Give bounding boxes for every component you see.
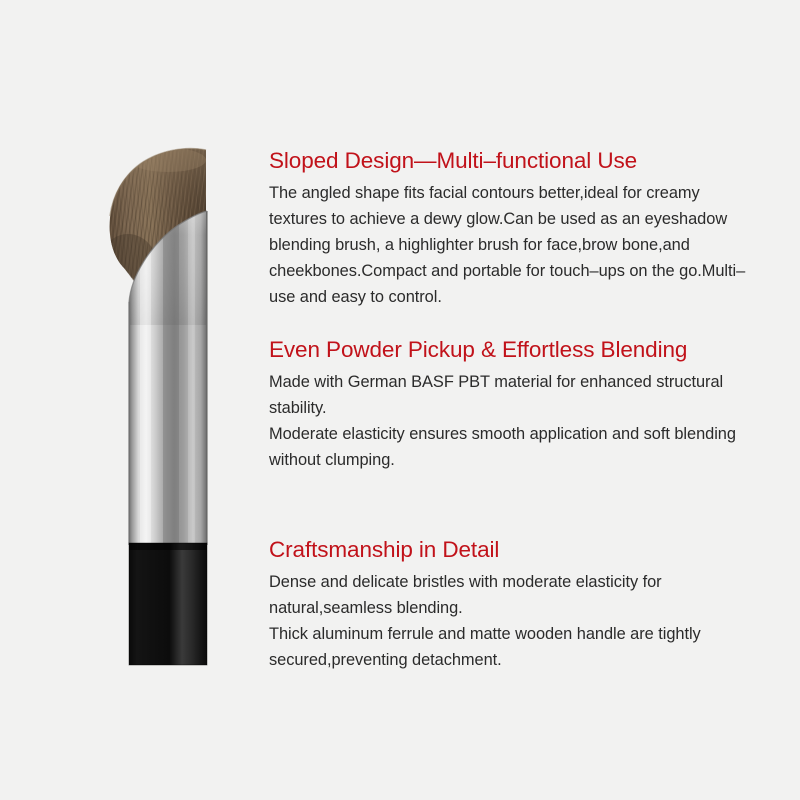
- feature-body: The angled shape fits facial contours be…: [269, 180, 747, 310]
- feature-body: Dense and delicate bristles with moderat…: [269, 569, 747, 673]
- product-image: [0, 0, 265, 800]
- feature-list: Sloped Design—Multi–functional Use The a…: [269, 0, 769, 800]
- feature-body: Made with German BASF PBT material for e…: [269, 369, 751, 473]
- feature-block-powder-pickup: Even Powder Pickup & Effortless Blending…: [269, 333, 751, 473]
- feature-heading: Even Powder Pickup & Effortless Blending: [269, 333, 689, 366]
- feature-heading: Sloped Design—Multi–functional Use: [269, 144, 751, 177]
- product-feature-page: Sloped Design—Multi–functional Use The a…: [0, 0, 800, 800]
- brush-handle: [129, 543, 207, 665]
- feature-block-craftsmanship: Craftsmanship in Detail Dense and delica…: [269, 533, 751, 673]
- feature-block-sloped-design: Sloped Design—Multi–functional Use The a…: [269, 144, 751, 310]
- feature-heading: Craftsmanship in Detail: [269, 533, 751, 566]
- angled-brush-illustration: [0, 0, 265, 800]
